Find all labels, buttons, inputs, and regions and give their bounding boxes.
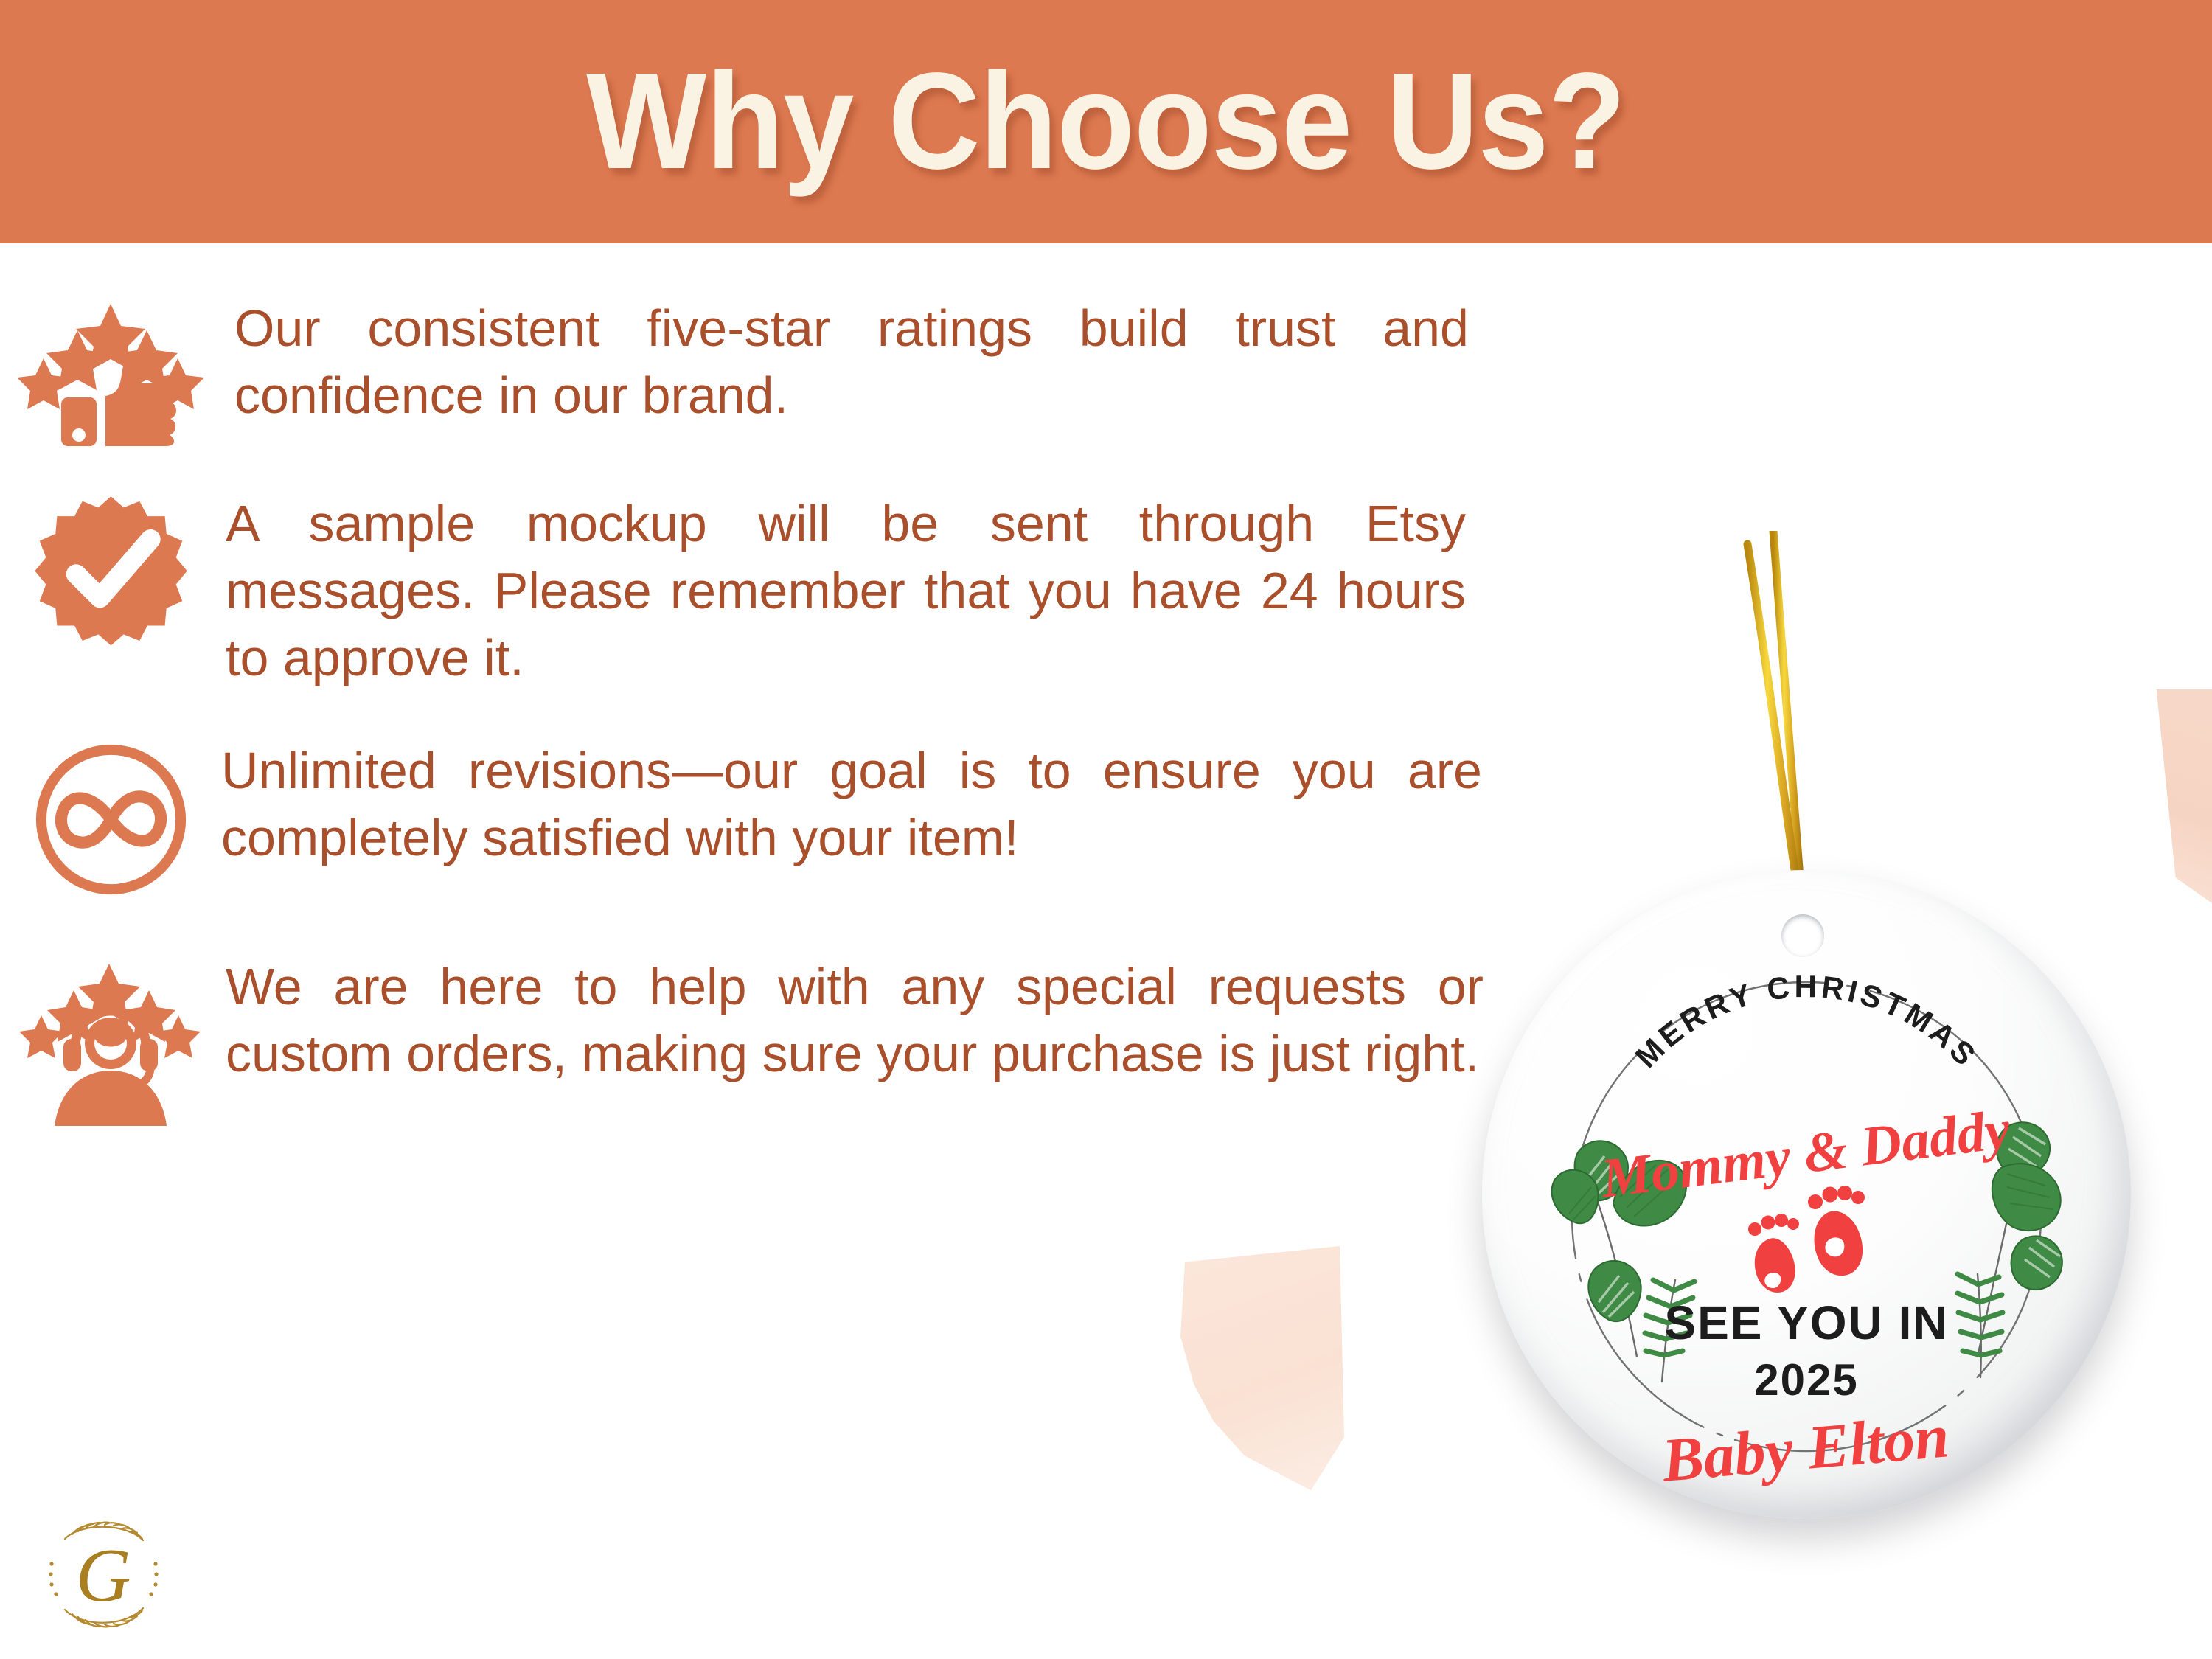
- ornament-recipients-text: Mommy & Daddy: [1597, 1098, 2014, 1209]
- watercolor-accent-middle: [1176, 1246, 1397, 1512]
- svg-text:Baby Elton: Baby Elton: [1659, 1402, 1952, 1495]
- ornament-announcement-line2: 2025: [1754, 1355, 1858, 1405]
- feature-item-ratings: Our consistent five-star ratings build t…: [0, 295, 1526, 446]
- page-title: Why Choose Us?: [586, 53, 1625, 190]
- verified-badge-check-icon: [0, 490, 221, 652]
- infinity-circle-icon: [0, 737, 221, 899]
- feature-text-ratings: Our consistent five-star ratings build t…: [221, 295, 1526, 429]
- baby-footprints-icon: [1748, 1186, 1865, 1293]
- brand-monogram-logo: G: [35, 1506, 172, 1643]
- ornament-greeting-text: MERRY CHRISTMAS: [1629, 969, 1985, 1074]
- ornament-baby-name-text: Baby Elton: [1659, 1402, 1952, 1495]
- five-star-thumbs-up-icon: [0, 295, 221, 446]
- feature-list: Our consistent five-star ratings build t…: [0, 295, 1526, 1164]
- svg-text:Mommy & Daddy: Mommy & Daddy: [1597, 1098, 2014, 1209]
- feature-item-support: We are here to help with any special req…: [0, 953, 1526, 1126]
- feature-text-support: We are here to help with any special req…: [221, 953, 1526, 1088]
- feature-item-revisions: Unlimited revisions—our goal is to ensur…: [0, 737, 1526, 899]
- feature-item-mockup: A sample mockup will be sent through Ets…: [0, 490, 1526, 692]
- logo-letter: G: [75, 1533, 131, 1618]
- feature-text-revisions: Unlimited revisions—our goal is to ensur…: [221, 737, 1526, 872]
- feature-text-mockup: A sample mockup will be sent through Ets…: [221, 490, 1526, 692]
- christmas-ornament-mockup: MERRY CHRISTMAS Mommy & Daddy SEE YOU IN…: [1438, 531, 2190, 1519]
- customer-support-stars-icon: [0, 953, 221, 1126]
- ornament-announcement-line1: SEE YOU IN: [1664, 1296, 1948, 1349]
- page-header: Why Choose Us?: [0, 0, 2212, 243]
